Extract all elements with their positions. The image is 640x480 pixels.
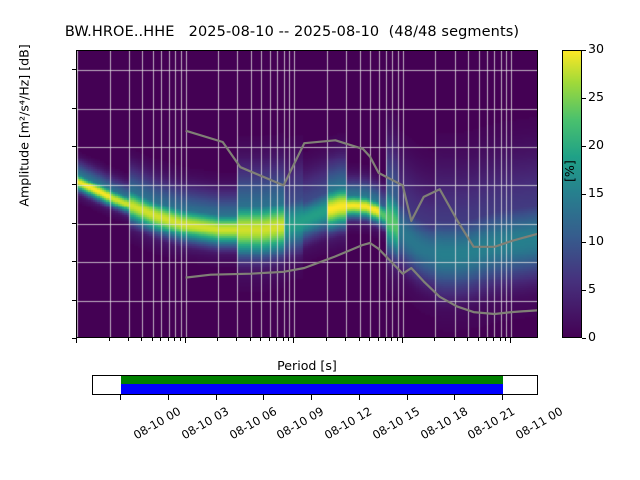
timeline-date-label: 08-10 15	[370, 404, 422, 442]
x-tick-mark	[160, 338, 161, 341]
x-tick-mark	[505, 338, 506, 341]
y-tick-mark	[72, 69, 76, 70]
x-tick-mark	[326, 338, 327, 341]
timeline-coverage-bar[interactable]	[92, 375, 538, 395]
y-tick-mark	[72, 184, 76, 185]
page-title: BW.HROE..HHE 2025-08-10 -- 2025-08-10 (4…	[0, 24, 584, 40]
x-tick-mark	[293, 338, 294, 343]
colorbar-tick-mark	[582, 98, 586, 99]
y-tick-mark	[72, 146, 76, 147]
x-tick-mark	[369, 338, 370, 341]
timeline-date-label: 08-10 18	[417, 404, 469, 442]
x-tick-mark	[288, 338, 289, 341]
timeline-tick-mark	[407, 395, 408, 400]
x-tick-mark	[269, 338, 270, 341]
colorbar-tick-mark	[582, 290, 586, 291]
colorbar-tick-mark	[582, 194, 586, 195]
x-tick-mark	[345, 338, 346, 341]
ppsd-plot-area	[76, 50, 538, 338]
y-tick-mark	[72, 261, 76, 262]
x-tick-mark	[467, 338, 468, 341]
x-tick-mark	[109, 338, 110, 341]
timeline-tick-mark	[168, 395, 169, 400]
colorbar-tick-mark	[582, 242, 586, 243]
colorbar-tick-label: 15	[588, 185, 604, 200]
x-tick-mark	[260, 338, 261, 341]
timeline-tick-mark	[359, 395, 360, 400]
x-tick-mark	[391, 338, 392, 341]
timeline-date-label: 08-10 09	[274, 404, 326, 442]
x-tick-mark	[500, 338, 501, 341]
timeline-tick-mark	[263, 395, 264, 400]
x-tick-mark	[283, 338, 284, 341]
y-tick-mark	[72, 223, 76, 224]
x-tick-mark	[185, 338, 186, 343]
x-tick-mark	[385, 338, 386, 341]
x-tick-mark	[76, 338, 77, 343]
colorbar-tick-label: 30	[588, 41, 604, 56]
x-tick-mark	[378, 338, 379, 341]
x-tick-mark	[454, 338, 455, 341]
x-tick-mark	[276, 338, 277, 341]
timeline-tick-mark	[120, 395, 121, 400]
timeline-tick-mark	[502, 395, 503, 400]
noise-model-curves	[77, 51, 538, 338]
colorbar-tick-mark	[582, 338, 586, 339]
colorbar-tick-mark	[582, 146, 586, 147]
x-tick-mark	[141, 338, 142, 341]
y-tick-mark	[72, 108, 76, 109]
y-tick-mark	[72, 300, 76, 301]
colorbar-label: [%]	[562, 92, 577, 182]
x-tick-mark	[402, 338, 403, 343]
timeline-tick-mark	[454, 395, 455, 400]
x-tick-mark	[174, 338, 175, 341]
colorbar-tick-label: 0	[588, 329, 596, 344]
colorbar-tick-label: 20	[588, 137, 604, 152]
x-axis-label: Period [s]	[76, 358, 538, 373]
x-tick-mark	[486, 338, 487, 341]
timeline-tick-mark	[216, 395, 217, 400]
x-tick-mark	[217, 338, 218, 341]
timeline-date-label: 08-10 03	[179, 404, 231, 442]
timeline-date-label: 08-10 21	[465, 404, 517, 442]
x-tick-mark	[359, 338, 360, 341]
timeline-tick-mark	[311, 395, 312, 400]
x-tick-mark	[236, 338, 237, 341]
colorbar-tick-label: 10	[588, 233, 604, 248]
timeline-date-label: 08-10 12	[322, 404, 374, 442]
x-tick-mark	[478, 338, 479, 341]
x-tick-mark	[128, 338, 129, 341]
y-axis-label: Amplitude [m²/s⁴/Hz] [dB]	[17, 6, 32, 246]
colorbar-tick-mark	[582, 50, 586, 51]
x-tick-mark	[152, 338, 153, 341]
x-tick-mark	[180, 338, 181, 341]
x-tick-mark	[397, 338, 398, 341]
x-tick-mark	[168, 338, 169, 341]
x-tick-mark	[493, 338, 494, 341]
timeline-segment-green	[121, 376, 503, 384]
x-tick-mark	[250, 338, 251, 341]
timeline-date-label: 08-10 06	[226, 404, 278, 442]
timeline-date-label: 08-11 00	[513, 404, 565, 442]
x-tick-mark	[510, 338, 511, 343]
colorbar-tick-label: 5	[588, 281, 596, 296]
timeline-segment-blue	[121, 384, 503, 394]
x-tick-mark	[434, 338, 435, 341]
timeline-date-label: 08-10 00	[131, 404, 183, 442]
timeline-tickmarks	[92, 395, 538, 405]
colorbar-tick-label: 25	[588, 89, 604, 104]
